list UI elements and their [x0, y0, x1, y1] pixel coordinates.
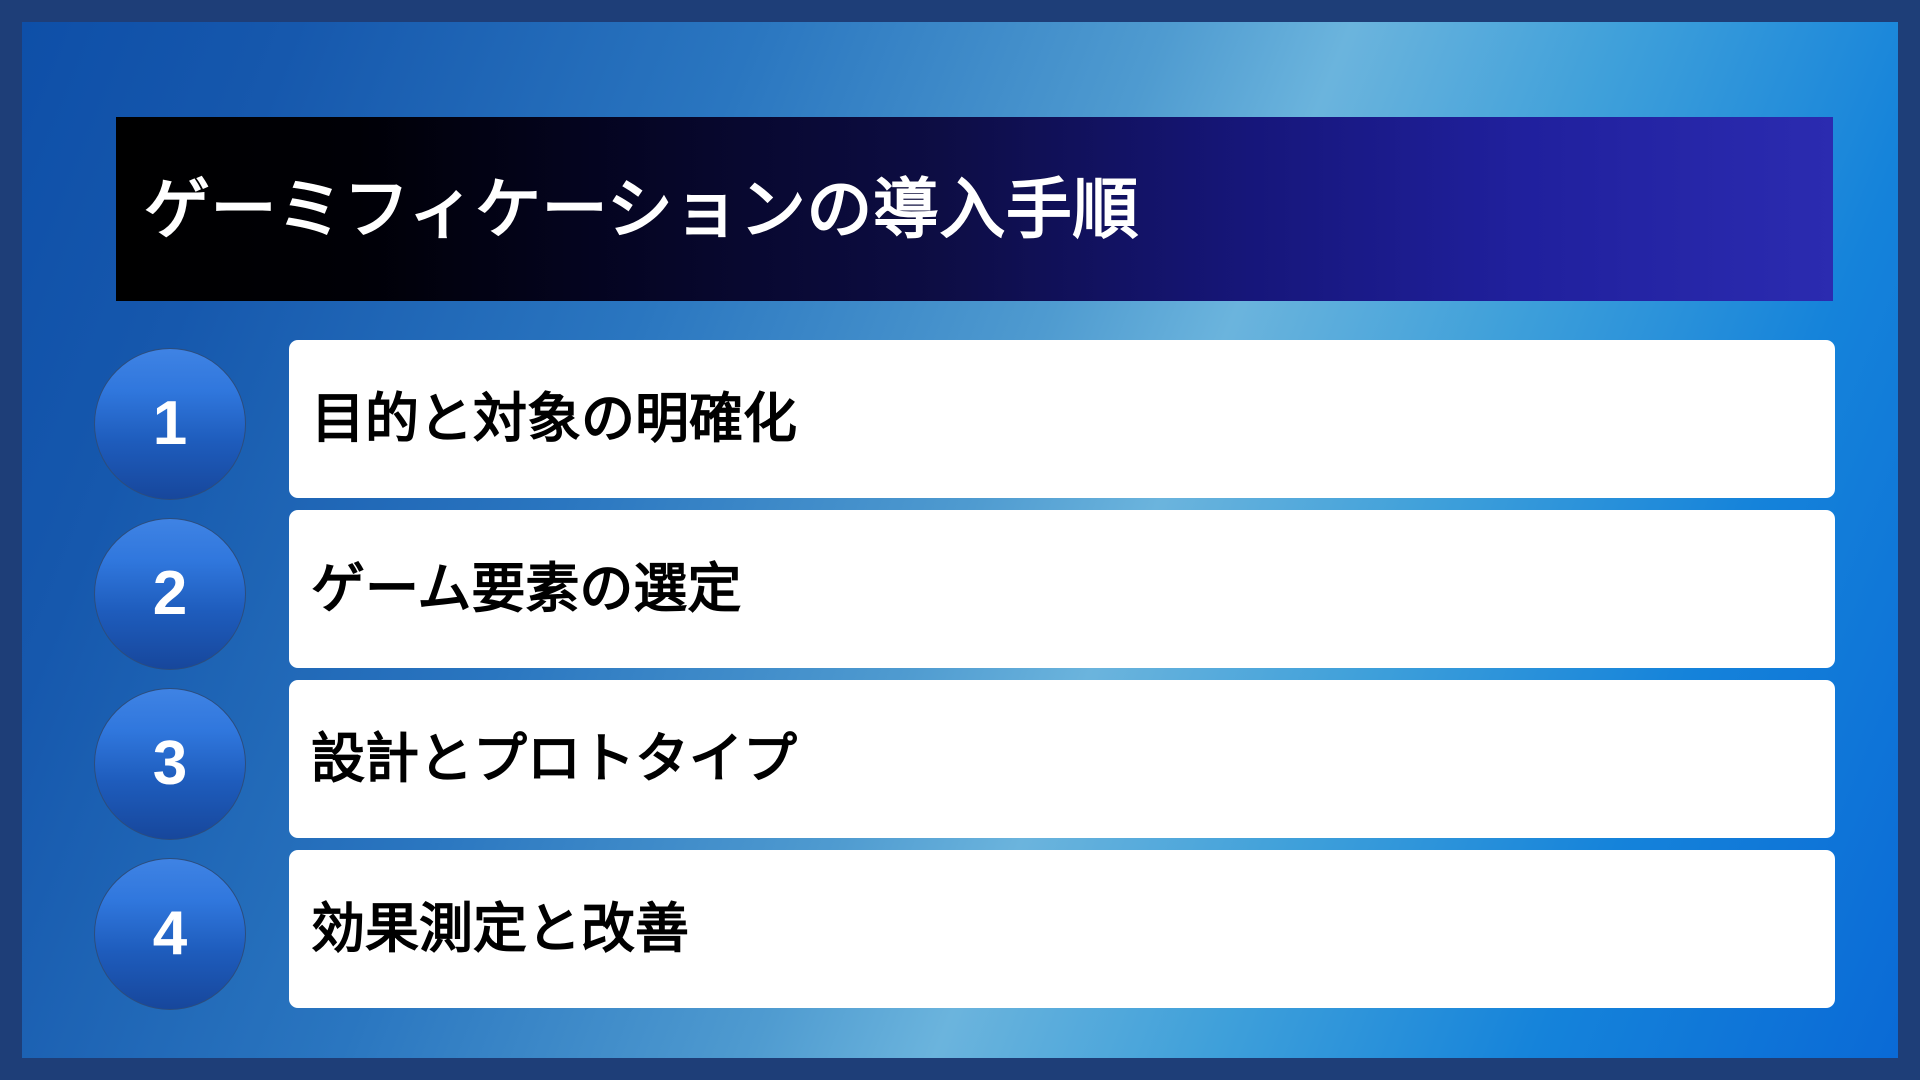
list-item: 1 目的と対象の明確化: [22, 340, 1920, 510]
step-number-badge: 1: [94, 348, 246, 500]
slide-frame: ゲーミフィケーションの導入手順 1 目的と対象の明確化 2 ゲーム要素の選定: [0, 0, 1920, 1080]
steps-list: 1 目的と対象の明確化 2 ゲーム要素の選定 3 設計とプロ: [22, 340, 1920, 1020]
step-number-label: 4: [153, 903, 187, 965]
step-number-badge: 4: [94, 858, 246, 1010]
step-card: 目的と対象の明確化: [289, 340, 1835, 498]
step-number-badge: 2: [94, 518, 246, 670]
step-card-label: 効果測定と改善: [289, 902, 689, 956]
step-card-label: 目的と対象の明確化: [289, 392, 797, 446]
list-item: 3 設計とプロトタイプ: [22, 680, 1920, 850]
step-card-label: 設計とプロトタイプ: [289, 732, 797, 786]
page-title: ゲーミフィケーションの導入手順: [116, 176, 1139, 242]
slide-background-panel: ゲーミフィケーションの導入手順 1 目的と対象の明確化 2 ゲーム要素の選定: [22, 22, 1898, 1058]
list-item: 4 効果測定と改善: [22, 850, 1920, 1020]
step-number-label: 2: [153, 563, 187, 625]
step-card-label: ゲーム要素の選定: [289, 562, 741, 616]
step-number-label: 3: [153, 733, 187, 795]
step-card: ゲーム要素の選定: [289, 510, 1835, 668]
step-card: 設計とプロトタイプ: [289, 680, 1835, 838]
step-number-badge: 3: [94, 688, 246, 840]
list-item: 2 ゲーム要素の選定: [22, 510, 1920, 680]
slide-title-band: ゲーミフィケーションの導入手順: [116, 117, 1833, 301]
step-card: 効果測定と改善: [289, 850, 1835, 1008]
step-number-label: 1: [153, 393, 187, 455]
